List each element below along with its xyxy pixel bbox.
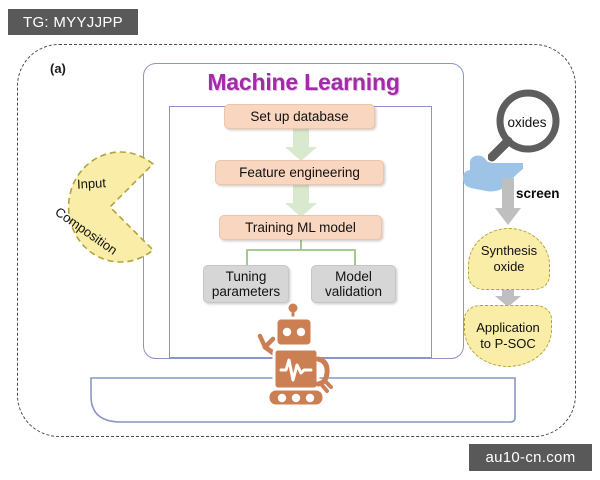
figure-title: Machine Learning — [143, 69, 464, 96]
flow-step-set-up-database[interactable]: Set up database — [224, 104, 375, 129]
arrow-db-to-feature — [284, 128, 318, 162]
panel-label: (a) — [50, 61, 66, 76]
watermark-bottom-badge: au10-cn.com — [469, 444, 592, 471]
output-label-line2: oxide — [493, 259, 524, 275]
flow-step-feature-engineering[interactable]: Feature engineering — [215, 160, 384, 185]
substep-label-line1: Tuning — [226, 269, 267, 284]
wedge-label-input: Input — [77, 175, 107, 191]
screen-step-label: screen — [516, 186, 560, 201]
flow-substep-tuning-parameters[interactable]: Tuning parameters — [203, 265, 289, 303]
output-label-line1: Synthesis — [481, 243, 537, 259]
magnifier-label-oxides: oxides — [488, 115, 566, 130]
arrow-screen-to-synthesis — [494, 178, 522, 226]
flow-substep-model-validation[interactable]: Model validation — [311, 265, 396, 303]
substep-label-line2: validation — [325, 284, 382, 299]
input-composition-wedge[interactable]: Input Composition — [55, 148, 165, 266]
output-label-line1: Application — [476, 320, 540, 336]
substep-label-line2: parameters — [212, 284, 280, 299]
figure-canvas: (a) Machine Learning Set up database Fea… — [0, 0, 600, 480]
robot-icon — [252, 303, 344, 408]
flow-step-training-ml-model[interactable]: Training ML model — [219, 215, 382, 240]
substep-label-line1: Model — [335, 269, 372, 284]
flow-step-label: Training ML model — [245, 220, 356, 235]
fork-connector — [239, 239, 363, 267]
watermark-top-badge: TG: MYYJJPP — [8, 9, 138, 35]
arrow-feature-to-train — [284, 184, 318, 218]
output-label-line2: to P-SOC — [480, 336, 536, 352]
flow-step-label: Feature engineering — [239, 165, 360, 180]
flow-step-label: Set up database — [250, 109, 348, 124]
